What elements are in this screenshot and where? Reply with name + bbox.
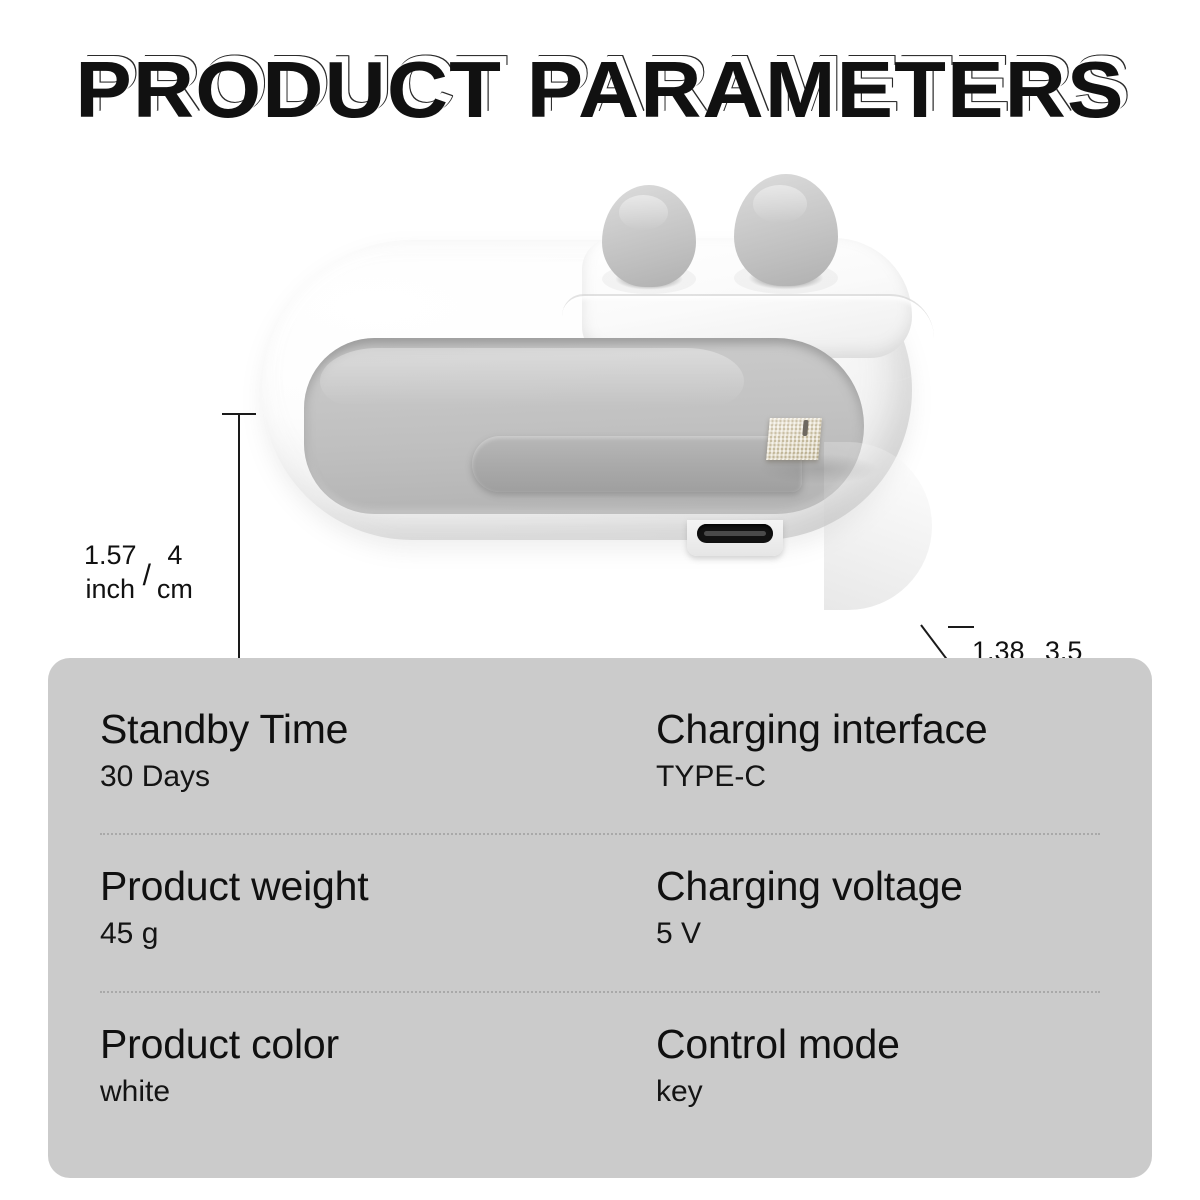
seal-button-highlight xyxy=(753,185,807,223)
seal-button xyxy=(734,174,838,286)
spec-value: 30 Days xyxy=(100,756,600,798)
depth-dimension-cap-top xyxy=(948,626,974,628)
spec-label: Product weight xyxy=(100,861,600,911)
height-value-inch: 1.57 xyxy=(84,538,137,572)
power-button xyxy=(602,185,696,287)
heating-strip xyxy=(766,418,822,460)
spec-label: Charging voltage xyxy=(656,861,1100,911)
height-dimension-label: 1.57 / 4 inch cm xyxy=(84,538,193,606)
usb-c-port-opening xyxy=(697,524,773,543)
spec-value: key xyxy=(656,1071,1100,1113)
spec-label: Product color xyxy=(100,1019,600,1069)
inset-highlight xyxy=(320,348,744,406)
page-title-container: PRODUCT PARAMETERS xyxy=(0,44,1200,136)
height-unit-inch: inch xyxy=(84,572,137,606)
spec-cell-standby-time: Standby Time 30 Days xyxy=(100,704,600,798)
spec-value: 45 g xyxy=(100,913,600,955)
sealing-slot xyxy=(472,436,802,492)
spec-cell-charging-interface: Charging interface TYPE-C xyxy=(600,704,1100,798)
spec-cell-charging-voltage: Charging voltage 5 V xyxy=(600,861,1100,955)
spec-value: TYPE-C xyxy=(656,756,1100,798)
height-dimension-cap-top xyxy=(222,413,256,415)
product-illustration-area: 1.57 / 4 inch cm 1.38 / 3.5 inch cm 3.74… xyxy=(0,170,1200,630)
spec-value: white xyxy=(100,1071,600,1113)
power-button-highlight xyxy=(619,195,668,230)
spec-label: Charging interface xyxy=(656,704,1100,754)
height-separator: / xyxy=(143,559,151,593)
specifications-panel: Standby Time 30 Days Charging interface … xyxy=(48,658,1152,1178)
heating-strip-notch xyxy=(802,420,808,436)
table-row: Product color white Control mode key xyxy=(100,991,1100,1148)
height-unit-cm: cm xyxy=(157,572,193,606)
product-image-mini-bag-sealer xyxy=(262,240,912,540)
spec-label: Standby Time xyxy=(100,704,600,754)
table-row: Product weight 45 g Charging voltage 5 V xyxy=(100,833,1100,990)
spec-cell-control-mode: Control mode key xyxy=(600,1019,1100,1113)
page-title: PRODUCT PARAMETERS xyxy=(75,44,1124,136)
spec-cell-product-weight: Product weight 45 g xyxy=(100,861,600,955)
height-dimension-line xyxy=(238,413,240,700)
spec-label: Control mode xyxy=(656,1019,1100,1069)
spec-cell-product-color: Product color white xyxy=(100,1019,600,1113)
usb-c-port xyxy=(687,520,783,556)
table-row: Standby Time 30 Days Charging interface … xyxy=(100,700,1100,833)
spec-value: 5 V xyxy=(656,913,1100,955)
height-value-cm: 4 xyxy=(157,538,193,572)
